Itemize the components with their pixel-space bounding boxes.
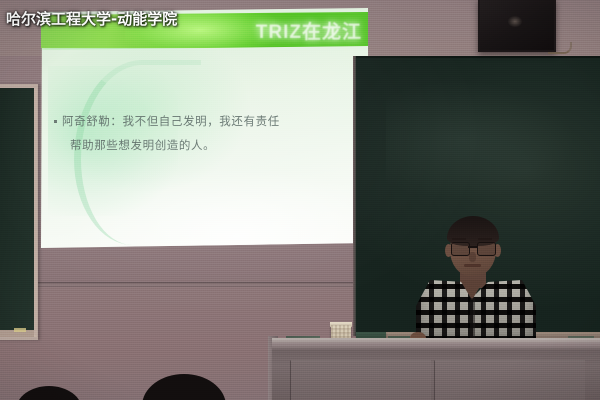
- left-lens: [451, 242, 470, 256]
- slide-text-line-1: 阿奇舒勒：我不但自己发明，我还有责任: [52, 110, 352, 134]
- slide-text-line-2: 帮助那些想发明创造的人。: [52, 134, 352, 158]
- lectern-top-surface: [272, 338, 600, 350]
- monitor-cable: [548, 42, 572, 54]
- lectern-top-highlight: [272, 338, 600, 343]
- lectern: [272, 338, 600, 400]
- glasses-bridge: [468, 246, 477, 248]
- slide-title-text: TRIZ在龙江: [256, 17, 362, 44]
- slide-body: 阿奇舒勒：我不但自己发明，我还有责任 帮助那些想发明创造的人。: [52, 110, 352, 158]
- left-eyebrow: [452, 238, 466, 240]
- right-lens: [477, 242, 496, 256]
- nose: [469, 252, 476, 262]
- lectern-panel-left: [290, 360, 431, 400]
- chalk-stick-icon: [14, 328, 26, 332]
- projection-screen: TRIZ在龙江 阿奇舒勒：我不但自己发明，我还有责任 帮助那些想发明创造的人。: [40, 8, 368, 248]
- lectern-panel-right: [434, 360, 585, 400]
- watermark-text: 哈尔滨工程大学-动能学院: [6, 8, 177, 29]
- mouth: [464, 264, 481, 267]
- wall-mounted-monitor: [478, 0, 556, 52]
- lecture-photo: TRIZ在龙江 阿奇舒勒：我不但自己发明，我还有责任 帮助那些想发明创造的人。: [0, 0, 600, 400]
- monitor-screen-reflection: [508, 16, 522, 27]
- lecturer: [412, 214, 540, 354]
- chalk-smudge: [386, 80, 576, 200]
- right-eyebrow: [478, 238, 492, 240]
- side-wall-chalkboard: [0, 88, 37, 337]
